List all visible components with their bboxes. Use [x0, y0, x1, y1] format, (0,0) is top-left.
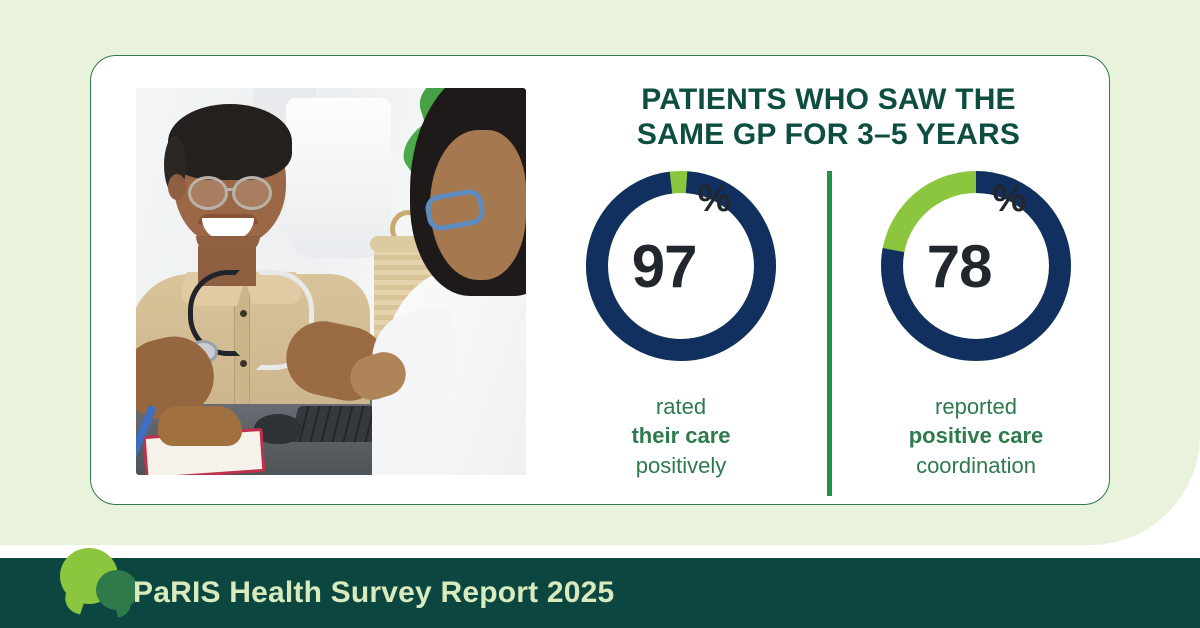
doctor-ear — [168, 174, 186, 200]
donut-value-label-78: 78% — [876, 166, 1076, 366]
caption-line-1: rated — [546, 392, 816, 421]
doctor-hand — [158, 406, 242, 446]
percent-sign: % — [992, 178, 1025, 221]
caption-line-1: reported — [841, 392, 1110, 421]
caption-line-2: positive care — [841, 421, 1110, 450]
caption-line-3: coordination — [841, 451, 1110, 480]
stat-rated-care-positively: 97% rated their care positively — [546, 166, 816, 480]
donut-number: 97 — [632, 232, 697, 301]
white-separator — [0, 545, 1200, 558]
stats-column: PATIENTS WHO SAW THE SAME GP FOR 3–5 YEA… — [546, 56, 1110, 505]
stat-caption-97: rated their care positively — [546, 392, 816, 480]
speech-bubbles-logo-icon — [56, 548, 142, 626]
doctor-patient-photo — [136, 88, 526, 475]
shirt-button — [240, 360, 247, 367]
shirt-button — [240, 310, 247, 317]
stats-row: 97% rated their care positively — [546, 166, 1110, 505]
doctor-chin — [196, 236, 260, 254]
page-title: PATIENTS WHO SAW THE SAME GP FOR 3–5 YEA… — [546, 82, 1110, 153]
infographic-poster: PATIENTS WHO SAW THE SAME GP FOR 3–5 YEA… — [0, 0, 1200, 628]
content-card: PATIENTS WHO SAW THE SAME GP FOR 3–5 YEA… — [90, 55, 1110, 505]
headline-line-2: SAME GP FOR 3–5 YEARS — [546, 117, 1110, 152]
donut-chart-97: 97% — [581, 166, 781, 366]
doctor-eyeglasses — [232, 176, 272, 210]
percent-sign: % — [697, 178, 730, 221]
donut-value-label-97: 97% — [581, 166, 781, 366]
stat-caption-78: reported positive care coordination — [841, 392, 1110, 480]
doctor-hair — [168, 104, 292, 180]
doctor-eyeglasses — [188, 176, 228, 210]
footer-bar: PaRIS Health Survey Report 2025 — [0, 558, 1200, 628]
stat-positive-care-coordination: 78% reported positive care coordination — [841, 166, 1110, 480]
footer-title: PaRIS Health Survey Report 2025 — [133, 558, 614, 628]
donut-number: 78 — [927, 232, 992, 301]
photo-scene — [136, 88, 526, 475]
caption-line-2: their care — [546, 421, 816, 450]
vertical-divider — [827, 171, 832, 496]
caption-line-3: positively — [546, 451, 816, 480]
headline-line-1: PATIENTS WHO SAW THE — [546, 82, 1110, 117]
eyeglasses-bridge — [226, 188, 236, 191]
speech-bubble-small — [96, 570, 138, 610]
donut-chart-78: 78% — [876, 166, 1076, 366]
